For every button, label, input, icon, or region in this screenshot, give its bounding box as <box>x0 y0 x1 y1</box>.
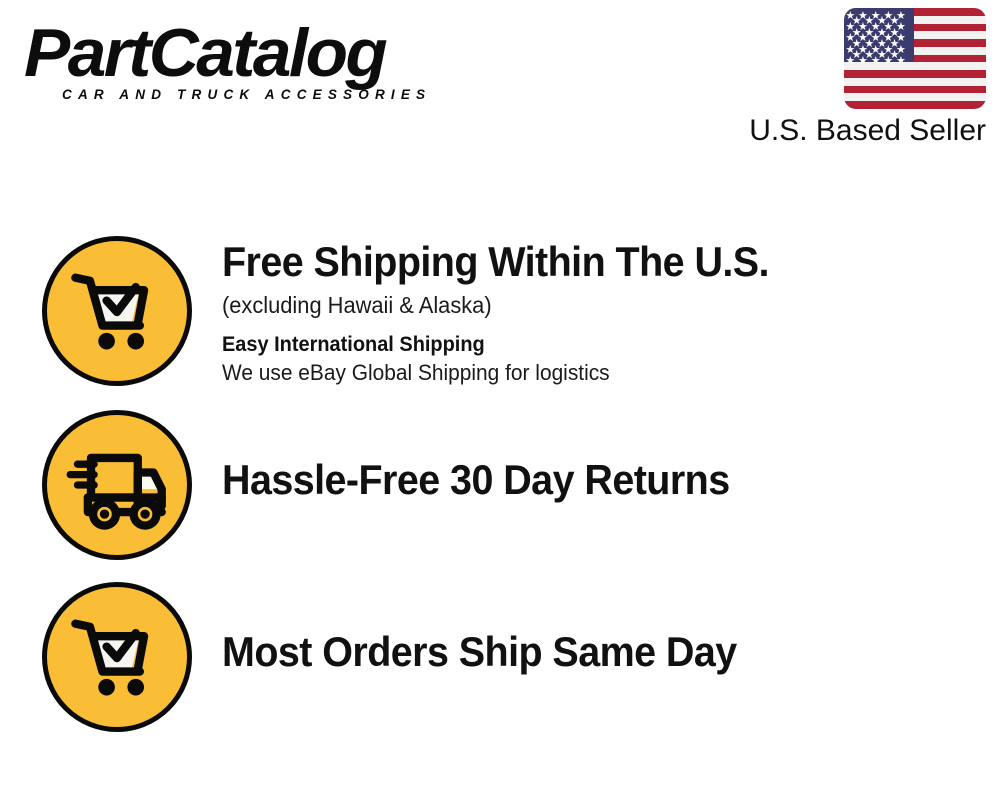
us-flag-icon: ★★★★★★★★★★★★★★★★★★★★★★★★★★★★★★★★★★★★★★★★… <box>844 8 986 109</box>
flag-canton: ★★★★★★★★★★★★★★★★★★★★★★★★★★★★★★★★★★★★★★★★… <box>844 8 914 62</box>
flag-stripe <box>844 70 986 78</box>
feature-subtext: (excluding Hawaii & Alaska) <box>222 292 961 319</box>
flag-star: ★ <box>845 55 855 66</box>
feature-secondary-body: We use eBay Global Shipping for logistic… <box>222 360 961 386</box>
page-header: PartCatalog CAR AND TRUCK ACCESSORIES ★★… <box>0 0 1000 170</box>
shopping-cart-check-icon <box>42 582 192 732</box>
us-based-seller-badge: ★★★★★★★★★★★★★★★★★★★★★★★★★★★★★★★★★★★★★★★★… <box>749 8 986 148</box>
flag-star: ★ <box>858 55 868 66</box>
feature-secondary-title: Easy International Shipping <box>222 333 961 357</box>
flag-star: ★ <box>871 55 881 66</box>
shopping-cart-check-icon <box>42 236 192 386</box>
flag-star: ★ <box>883 55 893 66</box>
feature-row: Free Shipping Within The U.S. (excluding… <box>0 236 1000 386</box>
flag-stripe <box>844 93 986 101</box>
feature-text-block: Free Shipping Within The U.S. (excluding… <box>222 236 1000 386</box>
seller-badge-label: U.S. Based Seller <box>749 114 986 148</box>
feature-text-block: Most Orders Ship Same Day <box>222 582 1000 674</box>
flag-stripe <box>844 78 986 86</box>
feature-heading: Hassle-Free 30 Day Returns <box>222 458 953 502</box>
feature-heading: Most Orders Ship Same Day <box>222 630 953 674</box>
feature-row: Hassle-Free 30 Day Returns <box>0 410 1000 560</box>
brand-wordmark: PartCatalog <box>24 22 503 85</box>
flag-stripe <box>844 86 986 94</box>
feature-heading: Free Shipping Within The U.S. <box>222 240 953 284</box>
brand-logo[interactable]: PartCatalog CAR AND TRUCK ACCESSORIES <box>24 22 494 102</box>
flag-star: ★ <box>896 55 906 66</box>
delivery-truck-icon <box>42 410 192 560</box>
feature-row: Most Orders Ship Same Day <box>0 582 1000 732</box>
flag-stripe <box>844 101 986 109</box>
feature-text-block: Hassle-Free 30 Day Returns <box>222 410 1000 502</box>
